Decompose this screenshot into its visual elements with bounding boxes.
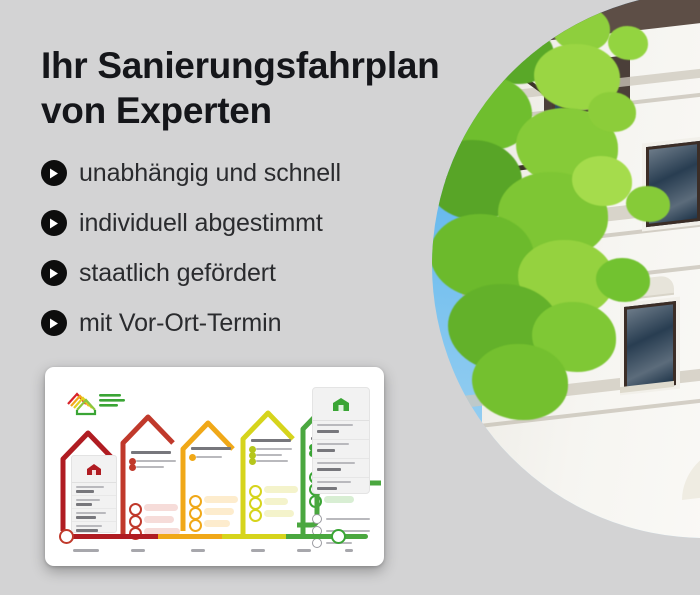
step-house-massnahmenpaket-3: [239, 407, 297, 539]
legend-circle-icon: [312, 538, 322, 548]
timeline-tick-label: [297, 549, 311, 552]
list-item: unabhängig und schnell: [41, 148, 471, 198]
timeline-tick-label: [131, 549, 145, 552]
sanierungsfahrplan-vorschau-karte[interactable]: [45, 367, 384, 566]
timeline-tick-label: [251, 549, 265, 552]
zielzustand-row: [313, 478, 369, 496]
timeline-segment: [158, 534, 222, 539]
play-circle-icon: [41, 210, 67, 236]
play-circle-icon: [41, 310, 67, 336]
timeline-tick-label: [73, 549, 99, 552]
leaf-cluster: [588, 92, 636, 132]
green-house-icon: [332, 397, 350, 412]
page-title: Ihr Sanierungsfahrplan von Experten: [41, 43, 561, 133]
poster-stage: Ihr Sanierungsfahrplan von Experten unab…: [0, 0, 700, 595]
benefit-label: unabhängig und schnell: [79, 159, 341, 187]
legend-circle-icon: [312, 514, 322, 524]
timeline-segment: [286, 534, 368, 539]
red-house-icon: [86, 463, 102, 476]
legend-label: [326, 518, 370, 520]
benefit-label: mit Vor-Ort-Termin: [79, 309, 281, 337]
play-circle-icon: [41, 160, 67, 186]
headline-line-2: von Experten: [41, 88, 561, 133]
legend-item: [312, 513, 370, 525]
timeline-segment: [63, 534, 158, 539]
timeline-tick-label: [345, 549, 353, 552]
timeline-tick-label: [191, 549, 205, 552]
zielzustand-panel: [312, 387, 370, 494]
leaf-cluster: [472, 344, 568, 420]
benefit-label: staatlich gefördert: [79, 259, 276, 287]
benefits-list: unabhängig und schnell individuell abges…: [41, 148, 471, 348]
zielzustand-row: [313, 421, 369, 440]
detail-box-ist-zustand: [71, 455, 117, 533]
list-item: staatlich gefördert: [41, 248, 471, 298]
leaf-cluster: [626, 186, 670, 222]
step-house-massnahmenpaket-2: [179, 417, 237, 535]
leaf-cluster: [572, 156, 632, 206]
timeline-bar: [63, 534, 368, 539]
benefit-label: individuell abgestimmt: [79, 209, 323, 237]
headline-line-1: Ihr Sanierungsfahrplan: [41, 45, 439, 86]
leaf-cluster: [608, 26, 648, 60]
zielzustand-row: [313, 459, 369, 478]
zielzustand-header: [313, 388, 369, 421]
play-circle-icon: [41, 260, 67, 286]
zielzustand-row: [313, 440, 369, 459]
list-item: mit Vor-Ort-Termin: [41, 298, 471, 348]
leaf-cluster: [596, 258, 650, 302]
timeline-end-marker: [331, 529, 346, 544]
timeline-segment: [222, 534, 286, 539]
list-item: individuell abgestimmt: [41, 198, 471, 248]
card-content: [45, 367, 384, 566]
timeline-start-marker: [59, 529, 74, 544]
